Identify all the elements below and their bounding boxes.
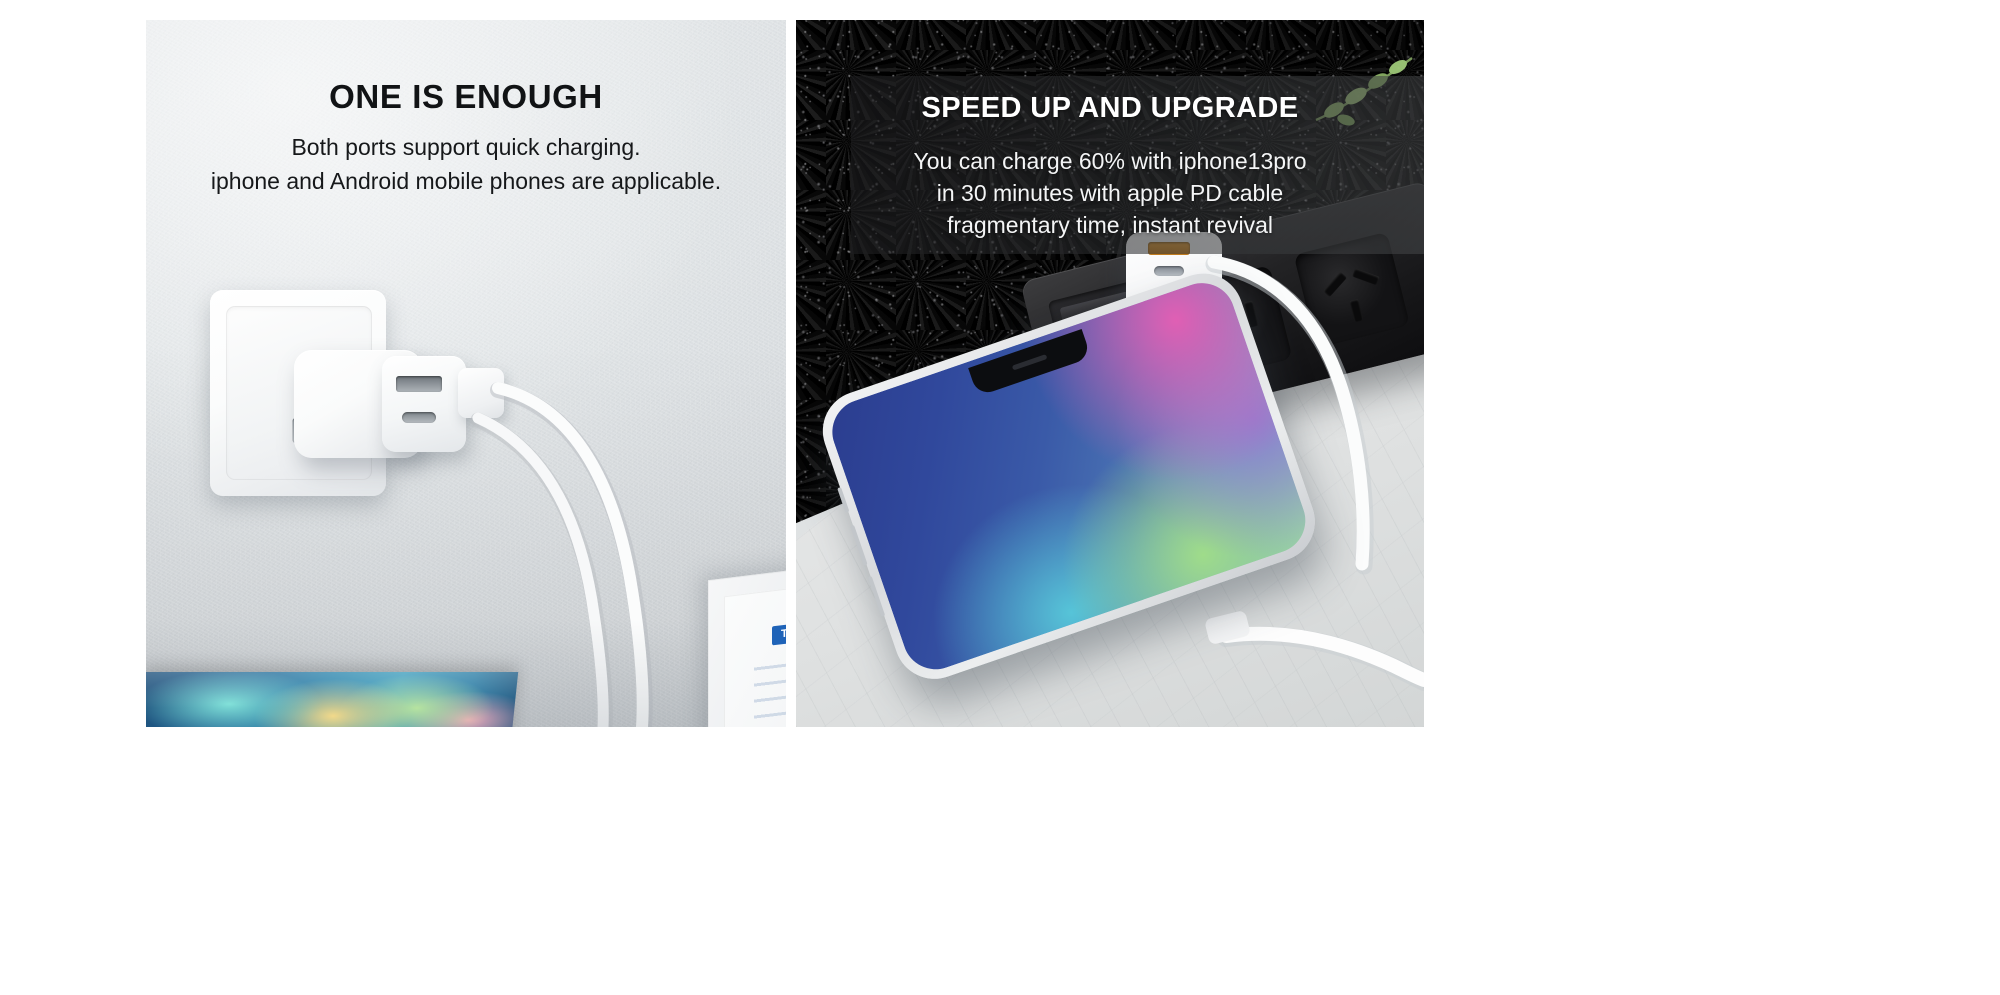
left-subtitle-line-2: iphone and Android mobile phones are app… [146,164,786,198]
banner-stage: TO ONE IS ENOUGH Both ports support quic… [0,0,2000,995]
artwork-gloss [146,672,518,727]
left-panel-heading: ONE IS ENOUGH [146,78,786,116]
right-body-line-1: You can charge 60% with iphone13pro [796,145,1424,177]
notebook-page: TO [724,573,786,727]
notebook-label: TO [772,622,786,645]
notebook-text-lines [754,640,786,727]
right-body-line-2: in 30 minutes with apple PD cable [796,177,1424,209]
right-panel-body: You can charge 60% with iphone13pro in 3… [796,145,1424,241]
right-panel-heading: SPEED UP AND UPGRADE [796,92,1424,125]
white-notebook: TO [708,556,786,727]
left-subtitle-line-1: Both ports support quick charging. [146,130,786,164]
left-product-panel: TO ONE IS ENOUGH Both ports support quic… [146,20,786,727]
right-product-panel: SPEED UP AND UPGRADE You can charge 60% … [796,20,1424,727]
right-body-line-3: fragmentary time, instant revival [796,209,1424,241]
left-panel-subtitle: Both ports support quick charging. iphon… [146,130,786,198]
abstract-artwork-tablet [146,672,518,727]
